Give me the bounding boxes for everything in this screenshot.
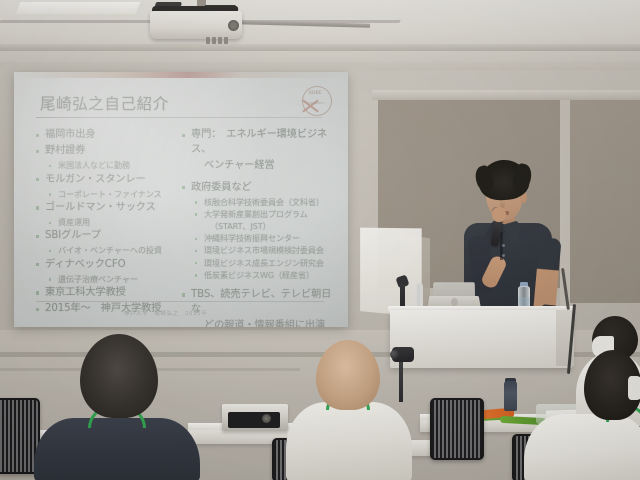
kobe-university-logo-icon: KOBE UNIVERSITY (300, 84, 334, 118)
second-projector-lens (262, 414, 271, 423)
logo-subtext: UNIVERSITY (308, 102, 324, 105)
bullet: SBIグループ (34, 229, 184, 244)
slide-footer-rule (36, 301, 324, 302)
bullet: 野村證券 (34, 144, 184, 159)
bullet: 専門： エネルギー環境ビジネス、 (180, 128, 338, 157)
bullet-continuation: どの報道・情報番組に出演 (180, 319, 338, 327)
bullet: ゴールドマン・サックス (34, 201, 184, 216)
attendee-center-head (316, 340, 380, 410)
wall-panel-trim (372, 90, 640, 100)
attendee-front-right-body (524, 414, 640, 480)
projection-screen: 尾崎弘之自己紹介 KOBE UNIVERSITY 福岡市出身 野村證券 米国法人… (14, 72, 348, 327)
ceiling-rail (0, 44, 640, 51)
sub-bullet: 低炭素ビジネスWG（経産省） (180, 270, 338, 281)
attendee-front-left-head (80, 334, 158, 418)
projector-lens (228, 20, 239, 31)
slide-left-bullet-list: 福岡市出身 野村證券 米国法人などに勤務 モルガン・スタンレー コーポレート・フ… (34, 128, 184, 317)
ceiling (0, 0, 640, 62)
sub-bullet-continuation: （START、JST） (180, 221, 338, 232)
water-bottle-label (518, 297, 530, 306)
sub-bullet: 沖縄科学技術振興センター (180, 233, 338, 244)
sub-bullet: 環境ビジネス成長エンジン研究会 (180, 258, 338, 269)
sub-bullet: 遺伝子治療ベンチャー (34, 274, 184, 285)
second-projector-panel (228, 412, 280, 428)
slide-right-bullet-list: 専門： エネルギー環境ビジネス、 ベンチャー経営 政府委員など 核融合科学技術委… (180, 128, 338, 327)
sub-bullet: 環境ビジネス市場規模検討委員会 (180, 245, 338, 256)
logo-text: KOBE (309, 91, 322, 96)
sub-bullet: バイオ・ベンチャーへの投資 (34, 245, 184, 256)
sub-bullet: コーポレート・ファイナンス (34, 189, 184, 200)
bullet: ディナベックCFO (34, 258, 184, 273)
whiteboard (360, 228, 422, 317)
bullet: モルガン・スタンレー (34, 173, 184, 188)
sub-bullet: 資産運用 (34, 217, 184, 228)
slide-left-column: 福岡市出身 野村證券 米国法人などに勤務 モルガン・スタンレー コーポレート・フ… (34, 128, 184, 318)
sub-bullet: 核融合科学技術委員会（文科省） (180, 197, 338, 208)
tripod-post (399, 360, 403, 402)
bullet: 政府委員など (180, 181, 338, 196)
ceiling-light (16, 2, 141, 14)
podium (390, 310, 572, 368)
slide-title: 尾崎弘之自己紹介 (40, 92, 169, 114)
sub-bullet: 大学発新産業創出プログラム (180, 209, 338, 220)
attendee-front-right-face-mask (628, 376, 640, 400)
wall-panel-right (570, 98, 640, 303)
bullet: 福岡市出身 (34, 128, 184, 143)
laptop-logo (451, 298, 458, 306)
lecture-hall-photo: 尾崎弘之自己紹介 KOBE UNIVERSITY 福岡市出身 野村證券 米国法人… (0, 0, 640, 480)
camera-lens-icon (390, 350, 399, 359)
bullet: 東京工科大学教授 (34, 286, 184, 301)
sub-bullet: 米国法人などに勤務 (34, 160, 184, 171)
bullet-continuation: ベンチャー経営 (180, 159, 338, 174)
chair-back-center (430, 398, 484, 460)
slide-surface: 尾崎弘之自己紹介 KOBE UNIVERSITY 福岡市出身 野村證券 米国法人… (14, 72, 348, 327)
attendee-center-body (286, 402, 412, 480)
slide-footer: 神戸大学 尾崎弘之 2015年 (124, 309, 208, 317)
slide-right-column: 専門： エネルギー環境ビジネス、 ベンチャー経営 政府委員など 核融合科学技術委… (180, 128, 338, 327)
slide-title-underline (36, 117, 322, 118)
slide-top-accent-bar (14, 72, 348, 78)
desk-water-bottle (504, 381, 517, 411)
